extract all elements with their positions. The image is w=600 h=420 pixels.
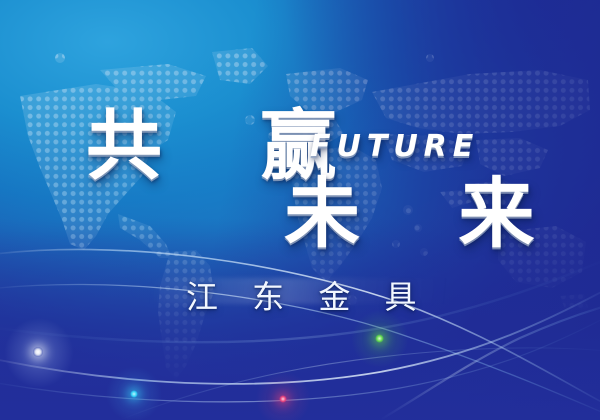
headline-line-2: 未 来 [284, 176, 570, 252]
promo-banner: 共 赢 FUTURE 未 来 江 东 金 具 [0, 0, 600, 420]
banner-copy: 共 赢 FUTURE 未 来 江 东 金 具 [0, 0, 600, 420]
headline-english: FUTURE [310, 129, 479, 164]
brand-name: 江 东 金 具 [186, 272, 429, 318]
